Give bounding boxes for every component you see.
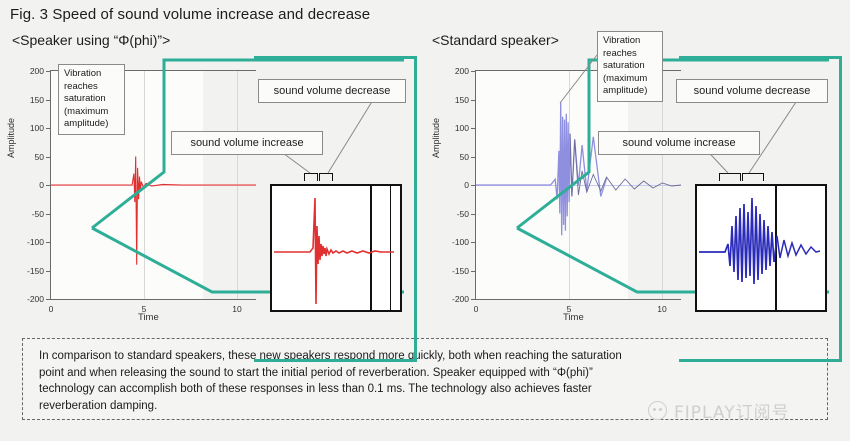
- right-panel-heading: <Standard speaker>: [432, 32, 559, 48]
- right-ytick-m200: -200: [452, 294, 476, 304]
- right-ytick-150: 150: [455, 95, 476, 105]
- left-ytick-100: 100: [30, 123, 51, 133]
- watermark-text: FIPLAY订阅号: [674, 398, 790, 423]
- right-ytick-m150: -150: [452, 266, 476, 276]
- right-ytick-100: 100: [455, 123, 476, 133]
- left-chart-y-axis-title: Amplitude: [6, 118, 16, 158]
- watermark-logo-icon: [648, 401, 667, 420]
- left-panel-heading: <Speaker using “Φ(phi)”>: [12, 32, 170, 48]
- left-ytick-m100: -100: [27, 237, 51, 247]
- left-callout-sound-volume-increase: sound volume increase: [171, 131, 323, 155]
- left-callout-sound-volume-decrease: sound volume decrease: [258, 79, 406, 103]
- figure-page: Fig. 3 Speed of sound volume increase an…: [0, 0, 850, 441]
- left-ytick-0: 0: [39, 180, 51, 190]
- left-xtick-0: 0: [49, 299, 54, 314]
- right-callout-vibration-saturation: Vibrationreachessaturation(maximumamplit…: [597, 31, 663, 102]
- figure-title: Fig. 3 Speed of sound volume increase an…: [10, 6, 370, 23]
- right-chart-y-axis-title: Amplitude: [431, 118, 441, 158]
- left-ytick-200: 200: [30, 66, 51, 76]
- right-xtick-0: 0: [474, 299, 479, 314]
- left-ytick-m200: -200: [27, 294, 51, 304]
- watermark: FIPLAY订阅号: [648, 398, 790, 423]
- right-ytick-m50: -50: [457, 209, 476, 219]
- right-callout-sound-volume-increase: sound volume increase: [598, 131, 760, 155]
- left-ytick-m150: -150: [27, 266, 51, 276]
- right-ytick-200: 200: [455, 66, 476, 76]
- left-inset-waveform: [272, 186, 396, 306]
- summary-note-line-3: technology can accomplish both of these …: [39, 381, 811, 398]
- right-inset-waveform: [697, 186, 821, 306]
- left-inset-plot: [270, 184, 402, 312]
- right-ytick-0: 0: [464, 180, 476, 190]
- right-ytick-50: 50: [460, 152, 476, 162]
- left-callout-vibration-saturation: Vibrationreachessaturation(maximumamplit…: [58, 64, 125, 135]
- left-ytick-150: 150: [30, 95, 51, 105]
- right-callout-sound-volume-decrease: sound volume decrease: [676, 79, 828, 103]
- left-ytick-m50: -50: [32, 209, 51, 219]
- summary-note-line-2: point and when releasing the sound to st…: [39, 365, 811, 382]
- left-ytick-50: 50: [35, 152, 51, 162]
- right-ytick-m100: -100: [452, 237, 476, 247]
- right-inset-plot: [695, 184, 827, 312]
